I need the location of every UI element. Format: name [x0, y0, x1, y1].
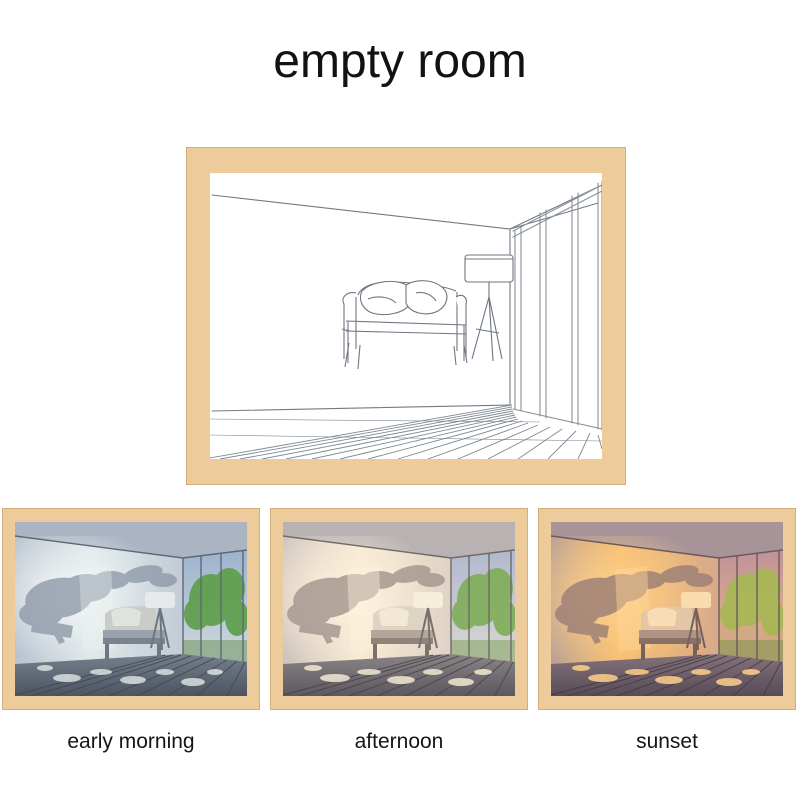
thumbnail-label-sunset: sunset	[538, 730, 796, 753]
page-title: empty room	[0, 38, 800, 86]
main-artwork-line-drawing	[210, 173, 602, 459]
thumbnail-label-early-morning: early morning	[2, 730, 260, 753]
thumbnail-label-afternoon: afternoon	[270, 730, 528, 753]
thumbnail-frame-early-morning[interactable]	[2, 508, 260, 710]
room-render-afternoon	[283, 522, 515, 696]
thumbnail-frame-afternoon[interactable]	[270, 508, 528, 710]
thumbnail-artwork-early-morning	[15, 522, 247, 696]
thumbnail-frame-sunset[interactable]	[538, 508, 796, 710]
room-line-art-svg	[210, 173, 602, 459]
room-render-early-morning	[15, 522, 247, 696]
thumbnail-artwork-sunset	[551, 522, 783, 696]
thumbnail-artwork-afternoon	[283, 522, 515, 696]
main-picture-frame[interactable]	[186, 147, 626, 485]
room-render-sunset	[551, 522, 783, 696]
